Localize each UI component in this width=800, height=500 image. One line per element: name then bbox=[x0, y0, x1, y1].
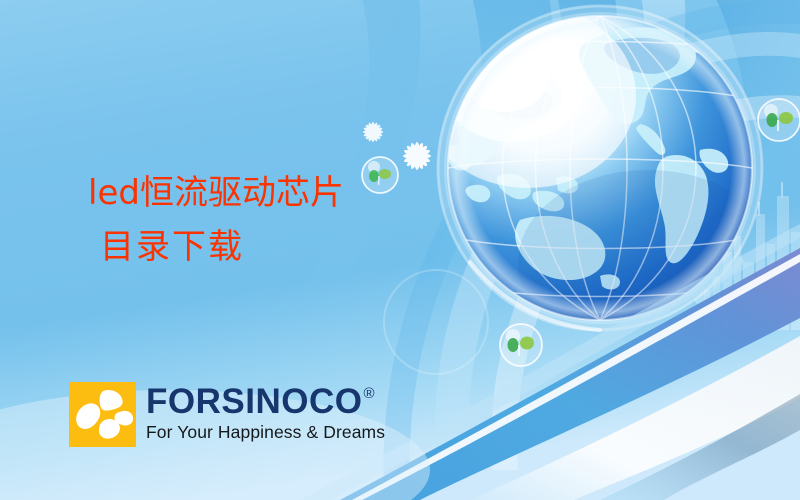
headline-block: led恒流驱动芯片 目录下载 bbox=[88, 166, 344, 274]
bubble-windmill-right-icon bbox=[758, 99, 800, 141]
bubble-windmill-icon bbox=[362, 157, 398, 193]
bubble-tree-icon bbox=[500, 324, 542, 366]
slide-canvas: led恒流驱动芯片 目录下载 FORSINOCO ® For Your Happ… bbox=[0, 0, 800, 500]
sparkle-flower-icon bbox=[403, 142, 431, 170]
registered-trademark-icon: ® bbox=[363, 386, 374, 401]
logo-text-block: FORSINOCO ® For Your Happiness & Dreams bbox=[146, 382, 385, 443]
four-petal-flower-icon bbox=[69, 382, 136, 447]
brand-tagline: For Your Happiness & Dreams bbox=[146, 422, 385, 443]
sparkle-flower-small-icon bbox=[363, 122, 383, 142]
brand-name: FORSINOCO bbox=[146, 385, 362, 419]
brand-row: FORSINOCO ® bbox=[146, 385, 385, 419]
company-logo: FORSINOCO ® For Your Happiness & Dreams bbox=[69, 382, 385, 447]
headline-line-1: led恒流驱动芯片 bbox=[88, 166, 344, 220]
headline-line-2: 目录下载 bbox=[88, 220, 344, 274]
